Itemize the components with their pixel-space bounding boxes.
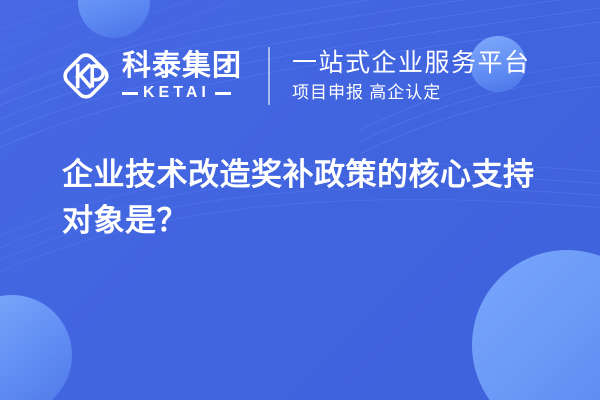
header-divider <box>268 47 270 105</box>
brand-text-block: 科泰集团 KETAI <box>122 51 242 101</box>
brand-latin-row: KETAI <box>122 85 242 101</box>
tagline-main: 一站式企业服务平台 <box>292 49 531 79</box>
brand-dash-right <box>215 92 231 95</box>
brand-dash-left <box>122 92 138 95</box>
tagline-sub: 项目申报 高企认定 <box>292 82 531 103</box>
ketai-logo-icon <box>60 50 112 102</box>
decorative-circle-top-left <box>78 0 150 38</box>
decorative-circle-bottom-left <box>0 295 72 400</box>
page-title: 企业技术改造奖补政策的核心支持对象是？ <box>62 152 562 244</box>
brand-lockup[interactable]: 科泰集团 KETAI <box>60 50 242 102</box>
brand-latin-name: KETAI <box>143 85 210 101</box>
tagline-block: 一站式企业服务平台 项目申报 高企认定 <box>292 49 531 104</box>
decorative-circle-bottom-right <box>472 250 600 400</box>
promo-banner: 科泰集团 KETAI 一站式企业服务平台 项目申报 高企认定 企业技术改造奖补政… <box>0 0 600 400</box>
brand-name: 科泰集团 <box>122 51 242 81</box>
banner-header: 科泰集团 KETAI 一站式企业服务平台 项目申报 高企认定 <box>60 40 531 112</box>
